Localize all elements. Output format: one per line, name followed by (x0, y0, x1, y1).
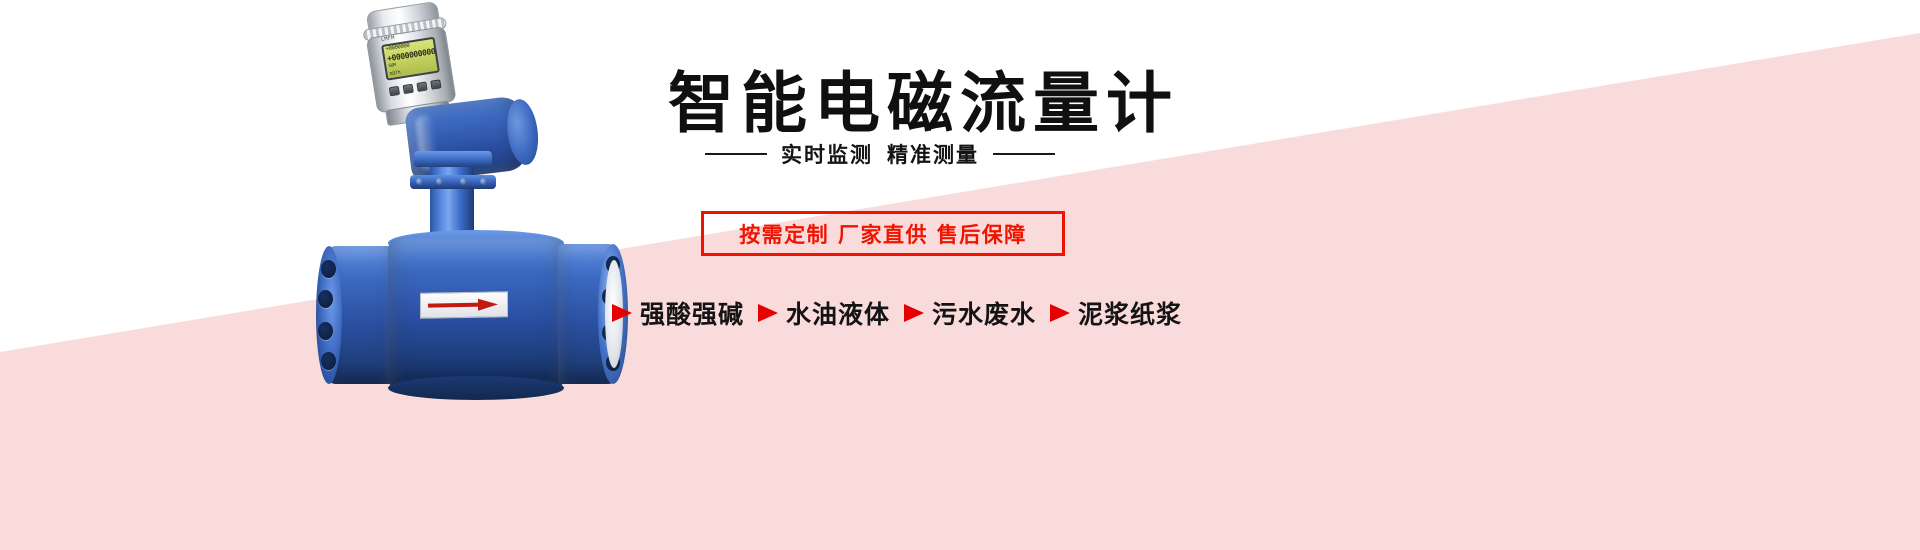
product-banner: LMFM +0000000 +0000000000 SUM m3/h (0, 0, 1920, 550)
highlight-box-text: 按需定制 厂家直供 售后保障 (739, 219, 1027, 249)
pipe-bottom-cap (388, 376, 564, 400)
feature-item-0: 强酸强碱 (612, 295, 744, 331)
converter-housing (404, 93, 544, 183)
subtitle-right: 精准测量 (887, 139, 979, 169)
neck-flange-upper (414, 151, 492, 167)
subtitle-rule-left (705, 153, 767, 155)
flange-left-bolt-hole-3 (318, 322, 333, 340)
transmitter-button-row[interactable] (389, 78, 442, 97)
lcd-unit-rate: m3/h (389, 70, 400, 77)
neck-flange-lower (410, 175, 496, 189)
transmitter-button-2[interactable] (403, 84, 414, 94)
transmitter-lcd-screen: +0000000 +0000000000 SUM m3/h (381, 37, 440, 81)
feature-label: 强酸强碱 (640, 295, 744, 331)
transmitter-brand-label: LMFM (381, 34, 395, 42)
page-title: 智能电磁流量计 (668, 50, 1179, 146)
flange-left-bolt-hole-2 (318, 290, 333, 308)
neck-bolt-3 (460, 178, 467, 185)
feature-item-3: 泥浆纸浆 (1050, 295, 1182, 331)
transmitter-button-3[interactable] (416, 81, 427, 91)
subtitle-row: 实时监测 精准测量 (705, 139, 1060, 169)
highlight-box: 按需定制 厂家直供 售后保障 (701, 211, 1065, 256)
neck-bolt-4 (480, 178, 487, 185)
neck-bolt-2 (436, 178, 443, 185)
neck-bolt-1 (416, 178, 423, 185)
feature-label: 污水废水 (932, 295, 1036, 331)
arrow-right-icon (904, 304, 924, 322)
feature-label: 水油液体 (786, 295, 890, 331)
sensor-pipe-assembly (326, 220, 626, 410)
product-image-electromagnetic-flowmeter: LMFM +0000000 +0000000000 SUM m3/h (290, 5, 660, 435)
feature-label: 泥浆纸浆 (1078, 295, 1182, 331)
flange-left-bolt-hole-1 (321, 260, 336, 278)
feature-item-1: 水油液体 (758, 295, 890, 331)
arrow-right-icon (758, 304, 778, 322)
flange-left-bolt-hole-4 (321, 352, 336, 370)
subtitle-rule-right (993, 153, 1055, 155)
flow-direction-arrow-icon (428, 297, 500, 312)
lcd-unit-sum: SUM (388, 64, 396, 70)
feature-list: 强酸强碱 水油液体 污水废水 泥浆纸浆 (612, 295, 1182, 331)
subtitle-left: 实时监测 (781, 139, 873, 169)
transmitter-button-1[interactable] (389, 86, 400, 96)
feature-item-2: 污水废水 (904, 295, 1036, 331)
flow-direction-plate (420, 291, 508, 319)
arrow-right-icon (1050, 304, 1070, 322)
transmitter-button-4[interactable] (430, 79, 441, 89)
flange-left-face (316, 246, 342, 384)
arrow-right-icon (612, 304, 632, 322)
